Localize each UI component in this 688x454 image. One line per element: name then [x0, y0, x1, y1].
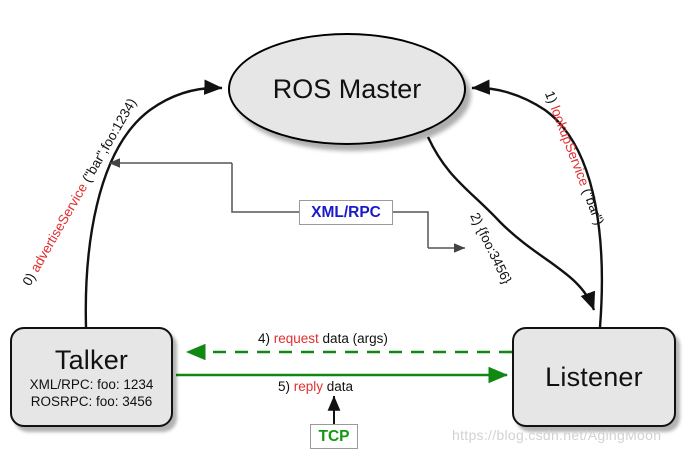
talker-detail-rosrpc: ROSRPC: foo: 3456: [31, 393, 153, 410]
node-ros-master[interactable]: ROS Master: [228, 33, 466, 145]
reply-index: 5): [278, 379, 294, 394]
node-listener[interactable]: Listener: [512, 327, 676, 427]
watermark-text: https://blog.csdn.net/AgingMoon: [452, 427, 661, 443]
talker-title: Talker: [55, 346, 128, 374]
reply-call: reply: [294, 379, 323, 394]
edge-label-request-data: 4) request data (args): [258, 331, 388, 346]
tcp-label: TCP: [319, 428, 350, 446]
leader-xmlrpc-left-elbow: [232, 163, 299, 212]
listener-title: Listener: [545, 363, 643, 391]
protocol-tag-xmlrpc[interactable]: XML/RPC: [299, 200, 393, 225]
edge-talker-to-master: [86, 88, 222, 327]
xmlrpc-label: XML/RPC: [311, 204, 381, 222]
reply-args: data: [323, 379, 353, 394]
protocol-tag-tcp[interactable]: TCP: [310, 424, 358, 449]
ros-master-label: ROS Master: [273, 74, 422, 105]
request-call: request: [274, 331, 319, 346]
talker-detail-xmlrpc: XML/RPC: foo: 1234: [30, 376, 154, 393]
node-talker[interactable]: Talker XML/RPC: foo: 1234 ROSRPC: foo: 3…: [10, 327, 173, 427]
ros-architecture-diagram: ROS Master Talker XML/RPC: foo: 1234 ROS…: [0, 0, 688, 454]
edge-label-reply-data: 5) reply data: [278, 379, 353, 394]
request-args: data (args): [319, 331, 388, 346]
leader-xmlrpc-right-elbow: [393, 212, 428, 248]
request-index: 4): [258, 331, 274, 346]
